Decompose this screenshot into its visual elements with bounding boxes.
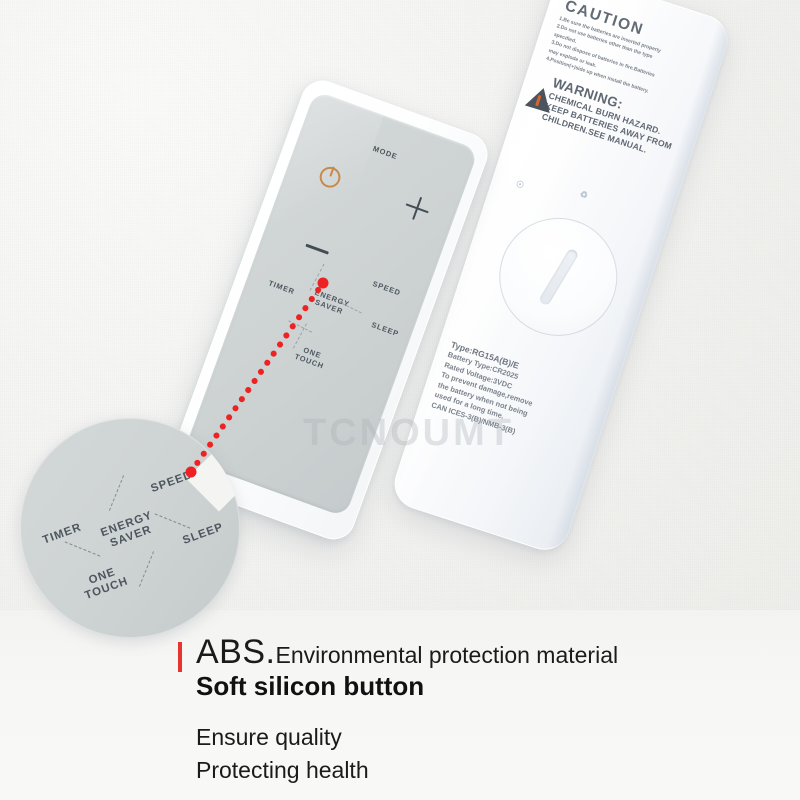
benefit-line-1: Ensure quality [178, 721, 778, 754]
magnifier-label-timer: TIMER [41, 521, 83, 546]
watermark: TCNOUMT [303, 412, 514, 455]
button-mode[interactable]: MODE [372, 144, 399, 161]
subheadline: Soft silicon button [178, 672, 778, 701]
magnifier-label-energy-saver: ENERGY SAVER [99, 510, 159, 553]
headline-strong: ABS. [196, 633, 275, 671]
headline: ABS.Environmental protection material [178, 634, 778, 670]
battery-door-slot [538, 247, 579, 306]
magnifier-divider [109, 475, 124, 511]
button-energy-saver[interactable]: ENERGY SAVER [310, 289, 350, 318]
plus-icon[interactable] [402, 193, 433, 224]
magnifier-label-speed: SPEED [149, 469, 194, 495]
magnifier-callout: SPEED TIMER ENERGY SAVER SLEEP ONE TOUCH [20, 418, 240, 638]
magnifier-label-one-touch: ONE TOUCH [79, 563, 131, 603]
panel-divider [288, 320, 312, 332]
button-speed[interactable]: SPEED [371, 279, 402, 298]
accent-bar [178, 642, 182, 672]
benefit-line-2: Protecting health [178, 754, 778, 787]
marketing-copy: ABS.Environmental protection material So… [178, 634, 778, 787]
headline-rest: Environmental protection material [275, 642, 618, 668]
magnifier-divider [155, 513, 191, 528]
button-one-touch[interactable]: ONE TOUCH [293, 344, 328, 370]
product-image-canvas: CAUTION 1.Be sure the batteries are inse… [0, 0, 800, 800]
magnifier-divider [65, 541, 101, 556]
magnifier-divider [139, 551, 154, 587]
magnifier-label-sleep: SLEEP [181, 521, 225, 547]
button-sleep[interactable]: SLEEP [370, 320, 400, 338]
